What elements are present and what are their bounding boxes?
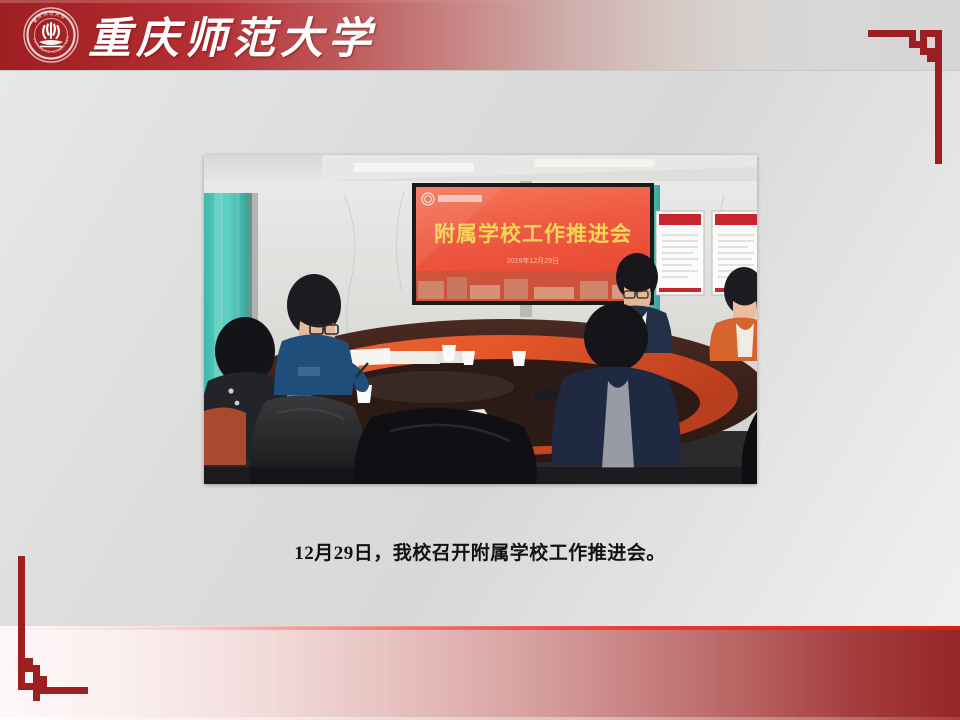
university-name: 重庆师范大学 bbox=[88, 5, 376, 65]
chinese-key-fret-corner-icon-top-right bbox=[868, 12, 946, 164]
photo-caption: 12月29日，我校召开附属学校工作推进会。 bbox=[0, 538, 960, 565]
chinese-key-fret-corner-icon-bottom-left bbox=[14, 556, 92, 708]
projection-screen: 附属学校工作推进会 2019年12月29日 bbox=[412, 183, 654, 305]
footer-banner bbox=[0, 626, 960, 720]
svg-text:2019年12月29日: 2019年12月29日 bbox=[507, 256, 559, 265]
svg-text:附属学校工作推进会: 附属学校工作推进会 bbox=[434, 222, 632, 246]
footer-accent-line bbox=[0, 626, 960, 630]
presentation-slide: 重庆师范大学 CHONGQING NORMAL UNIVERSITY bbox=[0, 0, 960, 720]
meeting-photograph: 附属学校工作推进会 2019年12月29日 bbox=[204, 155, 757, 484]
university-seal-icon: 重庆师范大学 CHONGQING NORMAL UNIVERSITY bbox=[22, 6, 80, 64]
header-banner: 重庆师范大学 CHONGQING NORMAL UNIVERSITY bbox=[0, 0, 960, 71]
